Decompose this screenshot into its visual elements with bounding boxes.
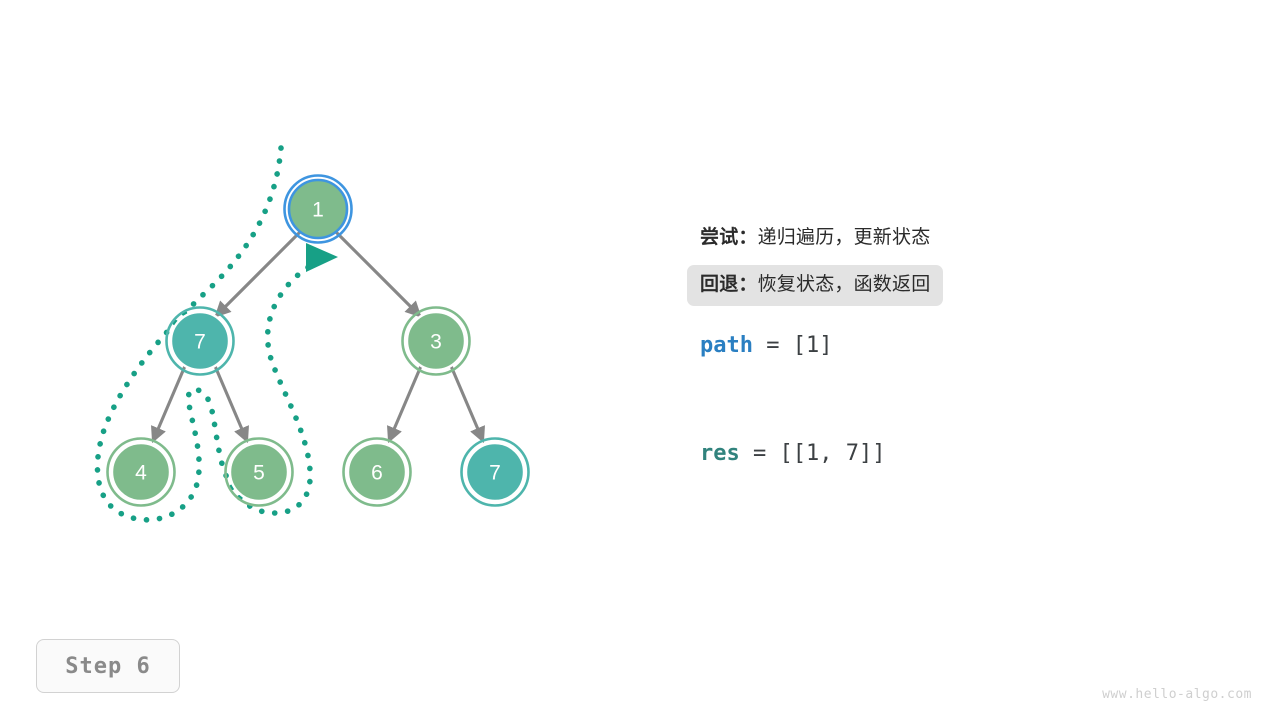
res-variable-name: res (700, 441, 740, 466)
step-badge: Step 6 (36, 639, 180, 693)
tree-node-6[interactable]: 6 (344, 439, 411, 506)
node-6-label: 6 (371, 462, 383, 485)
tree-node-4[interactable]: 4 (108, 439, 175, 506)
tree-nodes: 1 7 3 4 5 6 (108, 176, 529, 506)
description-line-try: 尝试：递归遍历，更新状态 (687, 218, 943, 258)
description-backtrack-keyword: 回退： (700, 274, 758, 295)
path-variable-value: = [1] (753, 333, 832, 358)
node-7r-label: 7 (489, 462, 501, 485)
node-5-label: 5 (253, 462, 265, 485)
tree-node-1[interactable]: 1 (285, 176, 352, 243)
node-7l-label: 7 (194, 331, 206, 354)
description-backtrack-text: 恢复状态，函数返回 (758, 274, 931, 295)
tree-node-5[interactable]: 5 (226, 439, 293, 506)
explanation-panel: 尝试：递归遍历，更新状态 回退：恢复状态，函数返回 path = [1] res… (700, 218, 1240, 466)
description-line-backtrack: 回退：恢复状态，函数返回 (687, 265, 943, 305)
node-4-label: 4 (135, 462, 147, 485)
description-try-keyword: 尝试： (700, 227, 758, 248)
edge-1-to-3 (336, 232, 420, 316)
description-try-text: 递归遍历，更新状态 (758, 227, 931, 248)
edge-3-to-7r (451, 366, 483, 441)
edge-3-to-6 (389, 366, 421, 441)
edge-7l-to-4 (153, 366, 185, 441)
node-3-label: 3 (430, 331, 442, 354)
tree-node-7-right[interactable]: 7 (462, 439, 529, 506)
path-variable-name: path (700, 333, 753, 358)
res-variable-value: = [[1, 7]] (740, 441, 886, 466)
edge-1-to-7l (216, 232, 300, 316)
node-1-label: 1 (312, 199, 324, 222)
watermark-url: www.hello-algo.com (1102, 687, 1252, 702)
backtrack-arrow-head (306, 243, 338, 272)
tree-node-7-left[interactable]: 7 (167, 308, 234, 375)
code-line-path: path = [1] (700, 333, 1240, 358)
code-line-res: res = [[1, 7]] (700, 441, 1240, 466)
edge-7l-to-5 (215, 366, 247, 441)
description-row-backtrack: 回退：恢复状态，函数返回 (700, 265, 1240, 305)
tree-node-3[interactable]: 3 (403, 308, 470, 375)
description-row-try: 尝试：递归遍历，更新状态 (700, 218, 1240, 258)
